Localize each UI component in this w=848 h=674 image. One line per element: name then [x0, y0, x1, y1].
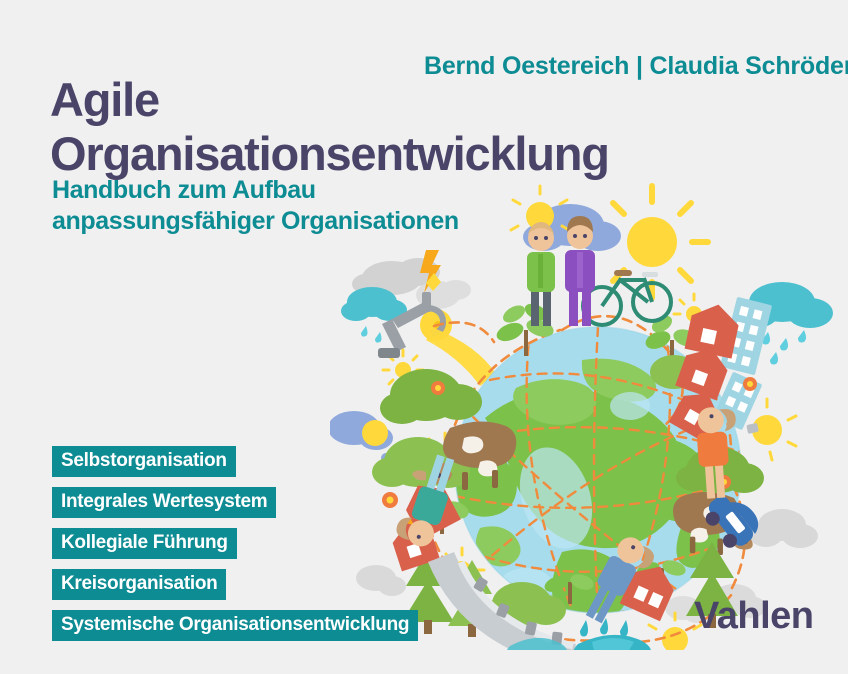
storm-cloud-icon — [750, 509, 818, 548]
keyword-tag: Kreisorganisation — [52, 569, 226, 600]
page-title: Agile Organisationsentwicklung — [50, 73, 750, 181]
bicycle-icon — [614, 270, 632, 276]
water-pond-icon — [573, 635, 651, 650]
publisher-logo: Vahlen — [694, 595, 814, 638]
keyword-tag: Systemische Organisationsentwicklung — [52, 610, 418, 641]
flower-icon — [743, 377, 757, 391]
sprout-icon — [580, 618, 628, 636]
title-line-2: Organisationsentwicklung — [50, 127, 750, 181]
book-cover: Bernd Oestereich | Claudia Schröder Agil… — [0, 0, 848, 674]
title-line-1: Agile — [50, 73, 750, 127]
subtitle-line-1: Handbuch zum Aufbau — [52, 175, 512, 206]
keyword-tag: Integrales Wertesystem — [52, 487, 276, 518]
bicycle-icon — [642, 272, 658, 277]
lightbulb-icon — [746, 399, 796, 460]
keyword-tag: Selbstorganisation — [52, 446, 236, 477]
tree-icon — [380, 369, 482, 424]
keyword-tag: Kollegiale Führung — [52, 528, 237, 559]
subtitle: Handbuch zum Aufbau anpassungsfähiger Or… — [52, 175, 512, 237]
lightbulb-icon — [362, 420, 388, 446]
subtitle-line-2: anpassungsfähiger Organisationen — [52, 206, 512, 237]
person-purple-shirt-icon — [565, 216, 595, 326]
keyword-tag-list: Selbstorganisation Integrales Wertesyste… — [52, 446, 418, 651]
